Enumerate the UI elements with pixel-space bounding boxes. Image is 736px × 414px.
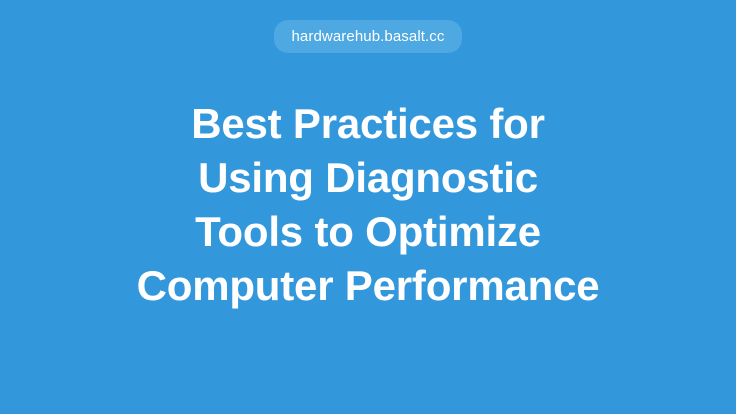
promo-card: hardwarehub.basalt.cc Best Practices for… bbox=[0, 0, 736, 414]
site-url-badge[interactable]: hardwarehub.basalt.cc bbox=[274, 20, 461, 53]
page-title-line-1: Best Practices for bbox=[16, 97, 720, 151]
page-title-line-4: Computer Performance bbox=[16, 259, 720, 313]
page-title-line-2: Using Diagnostic bbox=[16, 151, 720, 205]
url-badge-container: hardwarehub.basalt.cc bbox=[0, 20, 736, 53]
page-title: Best Practices for Using Diagnostic Tool… bbox=[0, 97, 736, 313]
site-url-label: hardwarehub.basalt.cc bbox=[291, 29, 444, 44]
page-title-line-3: Tools to Optimize bbox=[16, 205, 720, 259]
